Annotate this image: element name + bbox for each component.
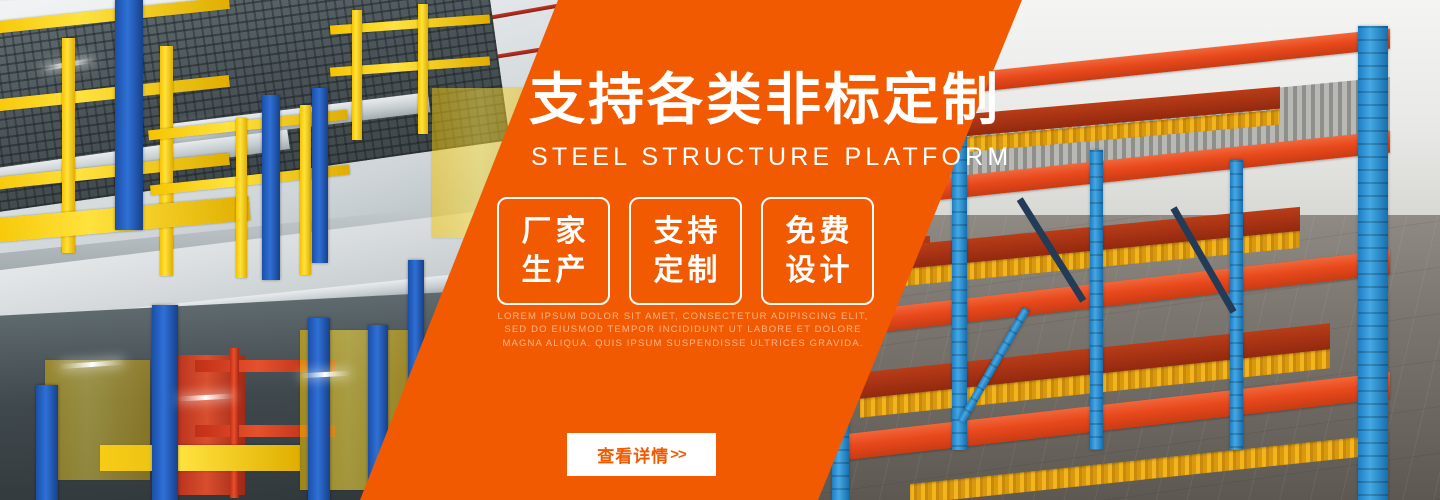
guard-rail-post [300,105,311,275]
guard-rail-post [418,4,428,134]
blue-support-column [152,305,178,500]
feature-line-2: 设计 [782,252,854,290]
guard-rail-post [352,10,362,140]
yellow-mesh-panel [45,360,150,480]
blue-support-column [36,385,58,500]
feature-badge-free-design[interactable]: 免费 设计 [761,197,874,305]
feature-line-1: 免费 [782,213,854,251]
guard-rail-post [160,46,173,276]
red-rack-frame [230,348,239,498]
rack-upright [1358,26,1388,500]
feature-line-1: 支持 [650,213,722,251]
feature-badges: 厂家 生产 支持 定制 免费 设计 [497,197,874,305]
feature-line-2: 生产 [518,252,590,290]
subtitle: STEEL STRUCTURE PLATFORM [531,145,971,170]
feature-line-1: 厂家 [518,213,590,251]
blue-support-column [308,318,330,500]
view-details-button[interactable]: 查看详情 >> [567,433,716,476]
page-title: 支持各类非标定制 [529,72,969,128]
feature-line-2: 定制 [650,252,722,290]
description-text: Lorem ipsum dolor sit amet, consectetur … [497,310,869,350]
cta-label: 查看详情 [597,442,669,467]
blue-support-column [312,88,328,263]
blue-support-column [262,95,280,280]
feature-badge-manufacturer[interactable]: 厂家 生产 [497,197,610,305]
promo-banner: 支持各类非标定制 STEEL STRUCTURE PLATFORM 厂家 生产 … [0,0,1440,500]
guard-rail-post [236,118,247,278]
double-chevron-right-icon: >> [670,446,686,463]
blue-support-column [115,0,143,230]
rack-upright [1090,150,1103,450]
feature-badge-customization[interactable]: 支持 定制 [629,197,742,305]
